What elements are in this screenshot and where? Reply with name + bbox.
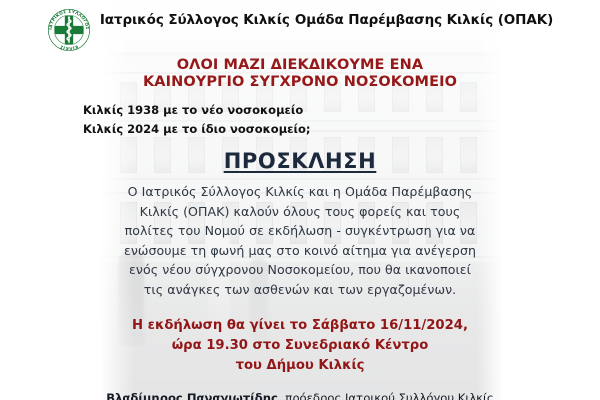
organization-header: ΙΑΤΡΙΚΟΣ ΣΥΛΛΟΓΟΣ ΚΙΛΚΙΣ Ιατρικός Σ: [46, 7, 554, 52]
organization-names: Ιατρικός Σύλλογος Κιλκίς Ομάδα Παρέμβαση…: [100, 7, 553, 29]
campaign-slogan: ΟΛΟΙ ΜΑΖΙ ΔΙΕΚΔΙΚΟΥΜΕ ΕΝΑ ΚΑΙΝΟΥΡΓΙΟ ΣΥΓ…: [46, 57, 554, 90]
signature-name: Βλαδίμηρος Παναγιωτίδης: [106, 391, 278, 400]
event-line-2: ώρα 19.30 στο Συνεδριακό Κέντρο: [46, 336, 554, 356]
page-title: ΠΡΟΣΚΛΗΣΗ: [46, 149, 554, 173]
comparison-line-2: Κιλκίς 2024 με το ίδιο νοσοκομείο;: [83, 120, 554, 139]
signature-role: , πρόεδρος Ιατρικού Συλλόγου Κιλκίς: [278, 391, 494, 400]
medical-association-seal-icon: ΙΑΤΡΙΚΟΣ ΣΥΛΛΟΓΟΣ ΚΙΛΚΙΣ: [47, 8, 91, 52]
body-line-4: ενώσουμε τη φωνή μας στο κοινό αίτημα γι…: [46, 241, 554, 261]
invitation-poster: ΙΑΤΡΙΚΟΣ ΣΥΛΛΟΓΟΣ ΚΙΛΚΙΣ Ιατρικός Σ: [0, 0, 600, 400]
event-line-3: του Δήμου Κιλκίς: [46, 356, 554, 376]
comparison-line-1: Κιλκίς 1938 με το νέο νοσοκομείο: [83, 101, 554, 120]
body-line-6: τις ανάγκες των ασθενών και των εργαζομέ…: [46, 280, 554, 300]
event-details: Η εκδήλωση θα γίνει το Σάββατο 16/11/202…: [46, 316, 554, 376]
org-name-line-2: Ομάδα Παρέμβασης Κιλκίς (ΟΠΑΚ): [295, 12, 553, 28]
body-line-5: ενός νέου σύγχρονου Νοσοκομείου, που θα …: [46, 260, 554, 280]
event-line-1: Η εκδήλωση θα γίνει το Σάββατο 16/11/202…: [46, 316, 554, 336]
signature-row: Βλαδίμηρος Παναγιωτίδης, πρόεδρος Ιατρικ…: [46, 391, 554, 400]
invitation-body-text: Ο Ιατρικός Σύλλογος Κιλκίς και η Ομάδα Π…: [46, 182, 554, 299]
body-line-1: Ο Ιατρικός Σύλλογος Κιλκίς και η Ομάδα Π…: [46, 182, 554, 202]
body-line-2: Κιλκίς (ΟΠΑΚ) καλούν όλους τους φορείς κ…: [46, 202, 554, 222]
signatures: Βλαδίμηρος Παναγιωτίδης, πρόεδρος Ιατρικ…: [46, 391, 554, 400]
body-line-3: πολίτες του Νομού σε εκδήλωση - συγκέντρ…: [46, 221, 554, 241]
org-name-line-1: Ιατρικός Σύλλογος Κιλκίς: [100, 12, 290, 28]
poster-content: ΙΑΤΡΙΚΟΣ ΣΥΛΛΟΓΟΣ ΚΙΛΚΙΣ Ιατρικός Σ: [0, 0, 600, 400]
comparison-statement: Κιλκίς 1938 με το νέο νοσοκομείο Κιλκίς …: [46, 101, 554, 139]
slogan-line-2: ΚΑΙΝΟΥΡΓΙΟ ΣΥΓΧΡΟΝΟ ΝΟΣΟΚΟΜΕΙΟ: [46, 74, 554, 91]
slogan-line-1: ΟΛΟΙ ΜΑΖΙ ΔΙΕΚΔΙΚΟΥΜΕ ΕΝΑ: [46, 57, 554, 74]
